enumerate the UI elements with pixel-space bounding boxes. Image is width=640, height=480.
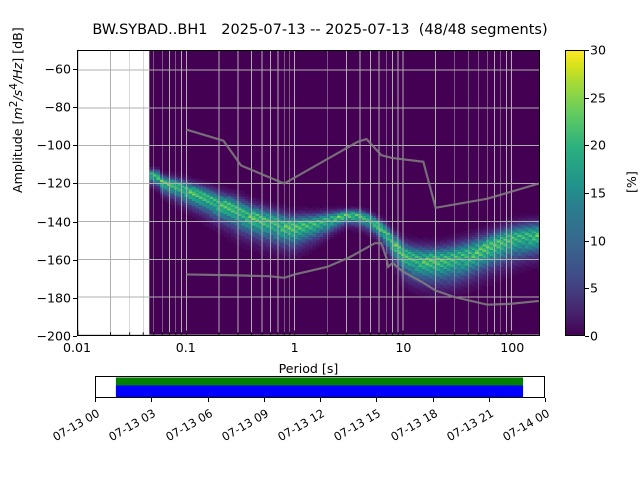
timeline-tick-mark [208,398,209,402]
colorbar-tick-mark [585,193,589,194]
y-tick-label: −160 [36,252,71,267]
y-tick-mark [73,107,77,108]
timeline-tick-mark [151,398,152,402]
x-tick-label: 1 [291,340,299,355]
timeline-axes[interactable] [95,376,545,398]
x-tick-label: 10 [395,340,411,355]
figure-canvas: BW.SYBAD..BH1 2025-07-13 -- 2025-07-13 (… [0,0,640,480]
colorbar-tick-label: 5 [590,281,598,296]
timeline-tick-label: 07-13 03 [99,406,158,448]
timeline-coverage-bars [96,377,544,397]
y-tick-label: −140 [36,214,71,229]
coverage-bar-blue [116,385,523,397]
x-tick-label: 0.1 [176,340,196,355]
ppsd-heatmap [78,51,539,335]
timeline-tick-label: 07-13 06 [156,406,215,448]
colorbar-tick-label: 30 [590,43,606,58]
y-tick-mark [73,222,77,223]
y-tick-mark [73,260,77,261]
timeline-tick-mark [95,398,96,402]
y-tick-mark [73,183,77,184]
y-axis-label: Amplitude [m2/s4/Hz] [dB] [8,27,25,193]
colorbar-tick-label: 15 [590,186,606,201]
timeline-tick-mark [376,398,377,402]
timeline-tick-label: 07-14 00 [493,406,552,448]
y-tick-label: −60 [44,62,71,77]
timeline-tick-mark [433,398,434,402]
colorbar-tick-mark [585,241,589,242]
page-title: BW.SYBAD..BH1 2025-07-13 -- 2025-07-13 (… [0,22,640,38]
timeline-tick-label: 07-13 21 [437,406,496,448]
y-tick-label: −100 [36,138,71,153]
timeline-tick-label: 07-13 00 [43,406,102,448]
y-tick-mark [73,336,77,337]
colorbar-tick-mark [585,50,589,51]
y-tick-label: −120 [36,176,71,191]
colorbar-tick-mark [585,336,589,337]
timeline-tick-mark [545,398,546,402]
timeline-tick-label: 07-13 12 [268,406,327,448]
timeline-tick-mark [489,398,490,402]
colorbar-tick-mark [585,288,589,289]
coverage-bar-green [116,377,523,385]
x-tick-label: 100 [500,340,524,355]
y-tick-mark [73,145,77,146]
timeline-tick-mark [320,398,321,402]
colorbar-tick-mark [585,98,589,99]
colorbar-label: [%] [624,171,639,193]
colorbar-tick-label: 10 [590,233,606,248]
timeline-tick-label: 07-13 09 [212,406,271,448]
y-tick-mark [73,69,77,70]
x-tick-label: 0.01 [63,340,91,355]
y-tick-label: −80 [44,100,71,115]
colorbar-tick-label: 25 [590,90,606,105]
y-tick-label: −180 [36,290,71,305]
colorbar-tick-label: 0 [590,329,598,344]
colorbar-tick-mark [585,145,589,146]
timeline-tick-label: 07-13 15 [324,406,383,448]
timeline-tick-label: 07-13 18 [381,406,440,448]
colorbar[interactable] [565,50,585,336]
y-tick-mark [73,298,77,299]
ppsd-plot-axes[interactable] [77,50,540,336]
x-axis-label: Period [s] [77,361,540,376]
colorbar-tick-label: 20 [590,138,606,153]
heatmap-cells [149,51,539,335]
timeline-tick-mark [264,398,265,402]
